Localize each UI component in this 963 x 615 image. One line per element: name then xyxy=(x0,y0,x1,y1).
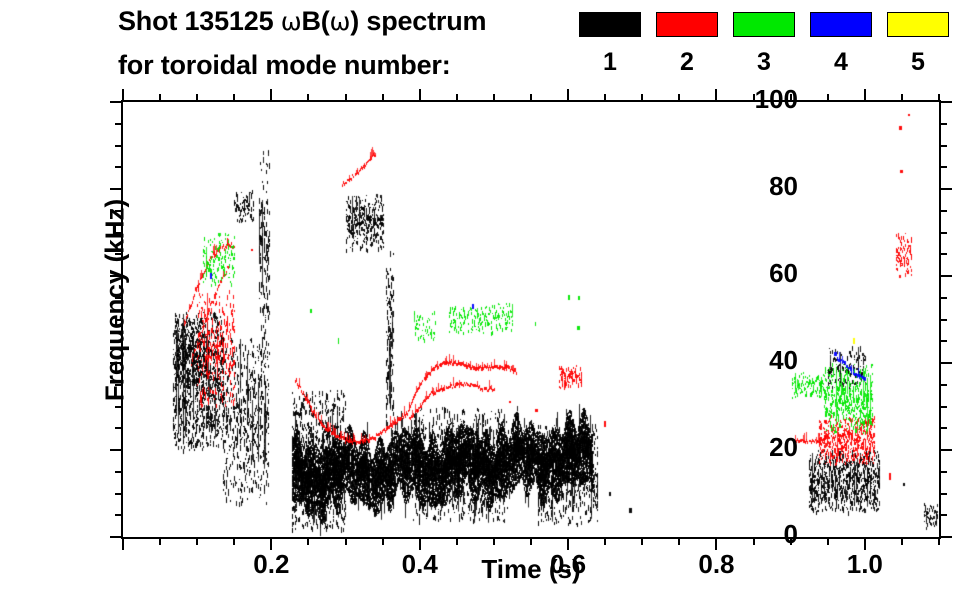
x-tick-minor xyxy=(604,537,606,545)
x-tick-minor xyxy=(196,94,198,102)
x-tick-minor xyxy=(307,94,309,102)
y-tick-minor xyxy=(939,319,947,321)
x-tick-major xyxy=(270,89,272,102)
x-tick-minor xyxy=(827,94,829,102)
x-tick-minor xyxy=(938,537,940,545)
x-tick-minor xyxy=(456,94,458,102)
x-tick-major xyxy=(864,89,866,102)
y-tick-minor xyxy=(939,384,947,386)
x-tick-minor xyxy=(382,94,384,102)
x-tick-major xyxy=(122,89,124,102)
x-tick-minor xyxy=(159,94,161,102)
y-tick-minor xyxy=(939,210,947,212)
title-suffix: ) spectrum xyxy=(350,6,486,36)
x-tick-minor xyxy=(604,94,606,102)
x-tick-minor xyxy=(307,537,309,545)
legend: 12345 xyxy=(579,12,959,92)
y-tick-label: 20 xyxy=(678,434,798,460)
y-tick-major xyxy=(939,536,952,538)
legend-item-3[interactable]: 3 xyxy=(733,12,795,75)
y-tick-minor xyxy=(115,210,123,212)
y-tick-minor xyxy=(939,471,947,473)
legend-item-4[interactable]: 4 xyxy=(810,12,872,75)
y-tick-label: 80 xyxy=(678,173,798,199)
x-tick-minor xyxy=(641,537,643,545)
x-tick-label: 0.4 xyxy=(360,551,480,577)
y-tick-label: 100 xyxy=(678,86,798,112)
omega-symbol-2: ω xyxy=(330,7,351,36)
x-tick-minor xyxy=(345,94,347,102)
x-tick-major xyxy=(122,537,124,550)
x-tick-major xyxy=(715,89,717,102)
x-tick-label: 0.2 xyxy=(211,551,331,577)
y-tick-minor xyxy=(939,493,947,495)
y-tick-minor xyxy=(939,123,947,125)
y-tick-minor xyxy=(115,471,123,473)
y-tick-major xyxy=(939,275,952,277)
y-tick-minor xyxy=(939,232,947,234)
x-tick-minor xyxy=(345,537,347,545)
x-tick-minor xyxy=(196,537,198,545)
x-tick-minor xyxy=(753,537,755,545)
omega-symbol-1: ω xyxy=(281,7,302,36)
x-tick-minor xyxy=(382,537,384,545)
legend-label-1: 1 xyxy=(579,50,641,75)
legend-swatch-5 xyxy=(887,12,949,37)
y-tick-minor xyxy=(115,297,123,299)
y-tick-minor xyxy=(115,427,123,429)
legend-label-2: 2 xyxy=(656,50,718,75)
legend-label-4: 4 xyxy=(810,50,872,75)
x-tick-minor xyxy=(233,94,235,102)
x-tick-minor xyxy=(159,537,161,545)
legend-swatch-3 xyxy=(733,12,795,37)
y-tick-major xyxy=(939,188,952,190)
y-tick-minor xyxy=(115,319,123,321)
y-tick-minor xyxy=(939,514,947,516)
spectrogram-figure: Shot 135125 ωB(ω) spectrum for toroidal … xyxy=(0,0,963,615)
legend-swatch-2 xyxy=(656,12,718,37)
y-tick-minor xyxy=(115,232,123,234)
legend-label-5: 5 xyxy=(887,50,949,75)
x-tick-label: 0.8 xyxy=(656,551,776,577)
title-prefix: Shot 135125 xyxy=(118,6,281,36)
x-tick-minor xyxy=(790,537,792,545)
x-tick-minor xyxy=(233,537,235,545)
y-tick-minor xyxy=(115,406,123,408)
legend-item-2[interactable]: 2 xyxy=(656,12,718,75)
y-tick-minor xyxy=(115,514,123,516)
y-tick-minor xyxy=(939,145,947,147)
y-tick-label: 40 xyxy=(678,347,798,373)
y-tick-minor xyxy=(939,340,947,342)
figure-title-line-2: for toroidal mode number: xyxy=(118,50,451,81)
y-tick-minor xyxy=(115,493,123,495)
y-axis-title: Frequency (kHz) xyxy=(100,199,131,401)
x-tick-minor xyxy=(456,537,458,545)
y-tick-label: 0 xyxy=(678,521,798,547)
x-tick-minor xyxy=(678,537,680,545)
legend-item-5[interactable]: 5 xyxy=(887,12,949,75)
x-tick-minor xyxy=(493,94,495,102)
x-tick-major xyxy=(419,89,421,102)
title-mid: B( xyxy=(301,6,329,36)
y-tick-major xyxy=(110,275,123,277)
x-tick-major xyxy=(567,89,569,102)
x-tick-label: 0.6 xyxy=(508,551,628,577)
figure-title-line-1: Shot 135125 ωB(ω) spectrum xyxy=(118,6,486,37)
y-tick-major xyxy=(939,101,952,103)
x-tick-label: 1.0 xyxy=(805,551,925,577)
y-tick-minor xyxy=(939,427,947,429)
x-tick-minor xyxy=(753,94,755,102)
y-tick-major xyxy=(110,188,123,190)
figure-header: Shot 135125 ωB(ω) spectrum for toroidal … xyxy=(0,0,963,96)
y-tick-minor xyxy=(939,297,947,299)
y-tick-minor xyxy=(939,406,947,408)
plot-area: Frequency (kHz) Time (s) 0204060801000.2… xyxy=(121,100,941,539)
y-tick-minor xyxy=(939,253,947,255)
x-tick-minor xyxy=(827,537,829,545)
y-tick-minor xyxy=(939,166,947,168)
x-tick-minor xyxy=(901,94,903,102)
y-tick-major xyxy=(939,449,952,451)
legend-swatch-4 xyxy=(810,12,872,37)
x-tick-minor xyxy=(493,537,495,545)
y-tick-minor xyxy=(115,253,123,255)
x-tick-minor xyxy=(530,537,532,545)
y-tick-minor xyxy=(115,145,123,147)
y-tick-label: 60 xyxy=(678,260,798,286)
legend-label-3: 3 xyxy=(733,50,795,75)
legend-item-1[interactable]: 1 xyxy=(579,12,641,75)
y-tick-minor xyxy=(115,123,123,125)
x-tick-minor xyxy=(530,94,532,102)
x-tick-minor xyxy=(678,94,680,102)
y-tick-minor xyxy=(115,340,123,342)
y-tick-major xyxy=(939,362,952,364)
y-tick-minor xyxy=(115,384,123,386)
x-tick-minor xyxy=(641,94,643,102)
y-tick-major xyxy=(110,362,123,364)
spectrogram-canvas xyxy=(123,102,939,537)
y-tick-minor xyxy=(115,166,123,168)
legend-swatch-1 xyxy=(579,12,641,37)
x-tick-minor xyxy=(790,94,792,102)
x-tick-minor xyxy=(901,537,903,545)
x-tick-minor xyxy=(938,94,940,102)
y-tick-major xyxy=(110,449,123,451)
